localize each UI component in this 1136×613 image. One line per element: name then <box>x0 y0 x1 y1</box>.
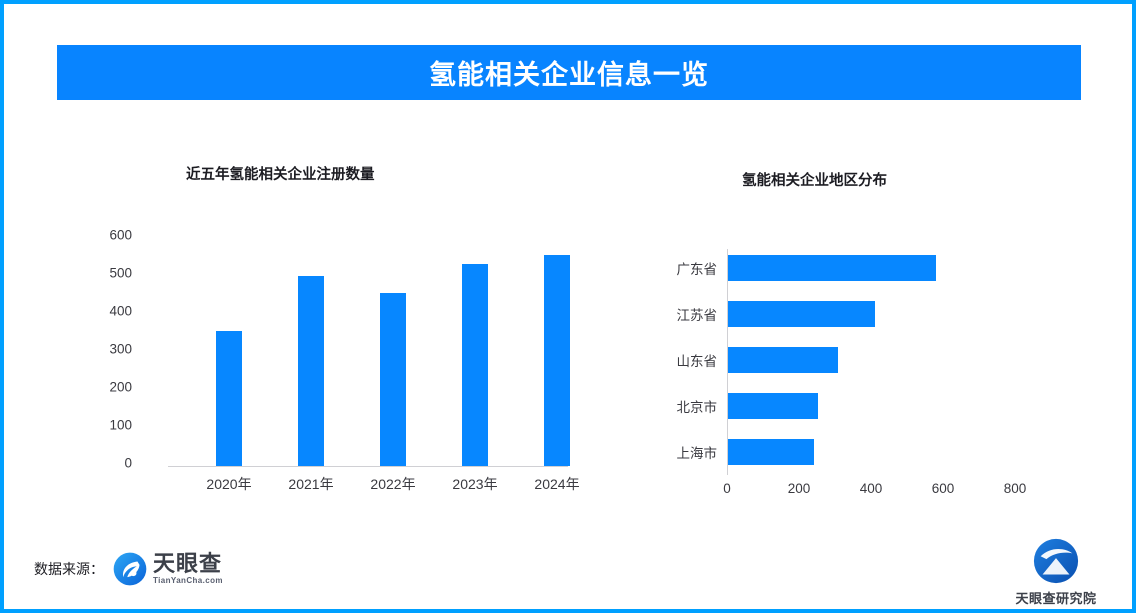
page-title: 氢能相关企业信息一览 <box>429 53 709 92</box>
column-bar <box>298 276 324 466</box>
horizontal-bar <box>728 439 814 465</box>
column-bar <box>380 293 406 466</box>
data-source-label: 数据来源： <box>34 559 104 579</box>
bar-chart-category-label: 江苏省 <box>649 304 717 324</box>
registration-count-column-chart: 2020年2021年2022年2023年2024年 60050040030020… <box>90 222 570 507</box>
bar-chart-x-tick: 200 <box>769 481 829 496</box>
horizontal-bar <box>728 393 818 419</box>
tianyancha-wordmark: 天眼查 TianYanCha.com <box>153 553 223 585</box>
column-chart-y-tick: 200 <box>90 380 132 395</box>
tianyancha-name-cn: 天眼查 <box>153 553 223 575</box>
column-chart-y-tick: 500 <box>90 266 132 281</box>
column-chart-x-tick: 2023年 <box>430 474 520 494</box>
regional-distribution-bar-chart: 广东省江苏省山东省北京市上海市0200400600800 <box>649 249 1049 514</box>
left-chart-title: 近五年氢能相关企业注册数量 <box>186 163 375 184</box>
bar-chart-category-label: 山东省 <box>649 350 717 370</box>
column-chart-y-tick: 400 <box>90 304 132 319</box>
bar-chart-category-label: 广东省 <box>649 258 717 278</box>
institute-logo-icon <box>1032 537 1080 585</box>
column-chart-y-tick: 0 <box>90 456 132 471</box>
bar-chart-x-tick: 400 <box>841 481 901 496</box>
column-chart-x-tick: 2022年 <box>348 474 438 494</box>
horizontal-bar <box>728 255 936 281</box>
column-chart-x-tick: 2024年 <box>512 474 602 494</box>
column-bar <box>544 255 570 466</box>
column-chart-x-tick: 2021年 <box>266 474 356 494</box>
bar-chart-x-tick: 800 <box>985 481 1045 496</box>
right-chart-title: 氢能相关企业地区分布 <box>742 169 887 190</box>
data-source-footer: 数据来源： 天眼查 TianYanCha.com <box>34 552 223 586</box>
infographic-page: 氢能相关企业信息一览 近五年氢能相关企业注册数量 2020年2021年2022年… <box>0 0 1136 613</box>
column-chart-y-tick: 600 <box>90 228 132 243</box>
column-chart-y-tick: 300 <box>90 342 132 357</box>
bar-chart-category-label: 上海市 <box>649 442 717 462</box>
bar-chart-category-label: 北京市 <box>649 396 717 416</box>
header-banner: 氢能相关企业信息一览 <box>57 45 1081 100</box>
column-chart-x-tick: 2020年 <box>184 474 274 494</box>
institute-name: 天眼查研究院 <box>1015 588 1096 607</box>
column-chart-plot-area: 2020年2021年2022年2023年2024年 <box>140 222 570 467</box>
horizontal-bar <box>728 301 875 327</box>
column-bar <box>462 264 488 466</box>
bar-chart-x-tick: 0 <box>697 481 757 496</box>
column-bar <box>216 331 242 466</box>
column-chart-y-tick: 100 <box>90 418 132 433</box>
column-chart-baseline <box>168 466 568 467</box>
tianyancha-name-en: TianYanCha.com <box>153 577 223 585</box>
tianyancha-eye-icon <box>113 552 147 586</box>
tianyancha-logo: 天眼查 TianYanCha.com <box>113 552 223 586</box>
bar-chart-x-tick: 600 <box>913 481 973 496</box>
horizontal-bar <box>728 347 838 373</box>
institute-logo-block: 天眼查研究院 <box>1008 537 1104 607</box>
